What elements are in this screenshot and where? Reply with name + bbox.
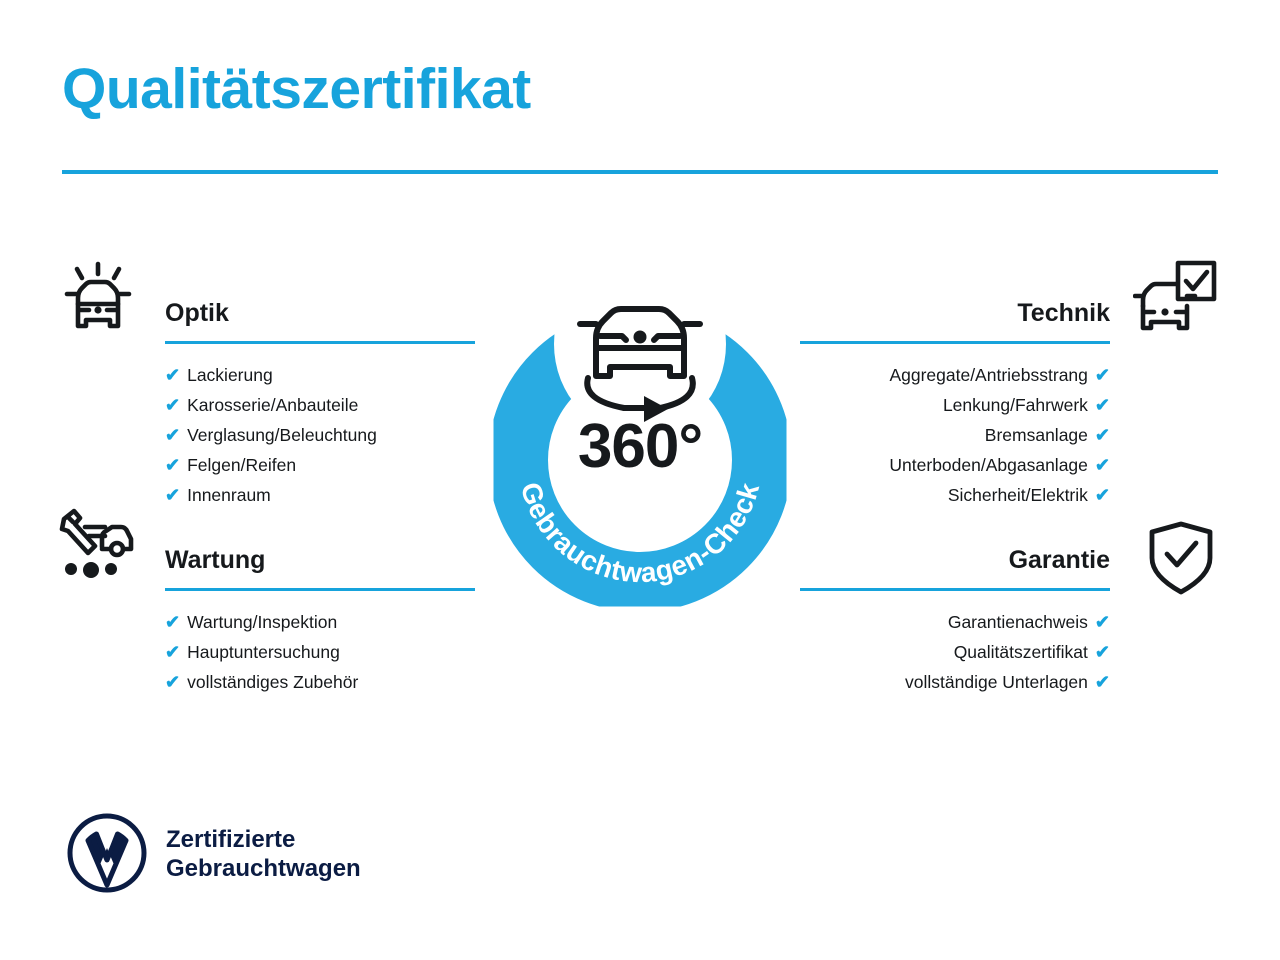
header-divider [62,170,1218,174]
check-icon: ✔ [165,395,180,415]
section-technik: Technik Aggregate/Antriebsstrang✔ Lenkun… [795,296,1215,510]
section-title-optik: Optik [165,296,475,330]
list-item-label: Verglasung/Beleuchtung [187,425,377,445]
list-item: ✔Verglasung/Beleuchtung [55,420,475,450]
section-title-technik: Technik [795,296,1110,330]
check-icon: ✔ [165,642,180,662]
list-item: Lenkung/Fahrwerk✔ [795,390,1215,420]
section-garantie: Garantie Garantienachweis✔ Qualitätszert… [795,543,1215,697]
list-item-label: Aggregate/Antriebsstrang [889,365,1087,385]
quality-certificate-page: Qualitätszertifikat [0,0,1280,960]
list-item-label: Sicherheit/Elektrik [948,485,1088,505]
check-icon: ✔ [1095,365,1110,385]
check-icon: ✔ [1095,425,1110,445]
check-icon: ✔ [165,365,180,385]
360-check-badge: Gebrauchtwagen-Check [455,248,825,618]
list-item-label: Qualitätszertifikat [954,642,1088,662]
section-title-garantie: Garantie [795,543,1110,577]
section-divider-garantie [800,588,1110,591]
section-wartung: Wartung ✔Wartung/Inspektion ✔Hauptunters… [55,543,475,697]
vw-wordmark-line2: Gebrauchtwagen [166,854,361,883]
list-item-label: Felgen/Reifen [187,455,296,475]
check-icon: ✔ [165,612,180,632]
list-item-label: Lackierung [187,365,273,385]
page-title: Qualitätszertifikat [62,58,531,121]
list-item-label: Unterboden/Abgasanlage [889,455,1088,475]
list-item: Garantienachweis✔ [795,607,1215,637]
list-item: ✔Lackierung [55,360,475,390]
list-item: Bremsanlage✔ [795,420,1215,450]
checklist-wartung: ✔Wartung/Inspektion ✔Hauptuntersuchung ✔… [55,607,475,697]
check-icon: ✔ [165,672,180,692]
vw-wordmark: Zertifizierte Gebrauchtwagen [166,825,361,883]
check-icon: ✔ [165,485,180,505]
list-item: ✔Felgen/Reifen [55,450,475,480]
section-divider-wartung [165,588,475,591]
check-icon: ✔ [165,455,180,475]
list-item-label: Bremsanlage [985,425,1088,445]
section-divider-optik [165,341,475,344]
check-icon: ✔ [165,425,180,445]
section-optik: Optik ✔Lackierung ✔Karosserie/Anbauteile… [55,296,475,510]
list-item-label: vollständiges Zubehör [187,672,358,692]
list-item-label: Wartung/Inspektion [187,612,337,632]
list-item: Aggregate/Antriebsstrang✔ [795,360,1215,390]
check-icon: ✔ [1095,672,1110,692]
section-divider-technik [800,341,1110,344]
list-item-label: Lenkung/Fahrwerk [943,395,1088,415]
list-item: vollständige Unterlagen✔ [795,667,1215,697]
list-item-label: Garantienachweis [948,612,1088,632]
checklist-optik: ✔Lackierung ✔Karosserie/Anbauteile ✔Verg… [55,360,475,510]
list-item: Unterboden/Abgasanlage✔ [795,450,1215,480]
list-item: Sicherheit/Elektrik✔ [795,480,1215,510]
checklist-technik: Aggregate/Antriebsstrang✔ Lenkung/Fahrwe… [795,360,1215,510]
vw-wordmark-line1: Zertifizierte [166,825,361,854]
check-icon: ✔ [1095,395,1110,415]
list-item: ✔Hauptuntersuchung [55,637,475,667]
badge-degrees: 360° [455,416,825,478]
list-item: ✔Innenraum [55,480,475,510]
list-item: Qualitätszertifikat✔ [795,637,1215,667]
vw-logo [66,812,148,894]
section-title-wartung: Wartung [165,543,475,577]
checklist-garantie: Garantienachweis✔ Qualitätszertifikat✔ v… [795,607,1215,697]
check-icon: ✔ [1095,485,1110,505]
list-item: ✔vollständiges Zubehör [55,667,475,697]
list-item-label: Karosserie/Anbauteile [187,395,358,415]
list-item-label: Hauptuntersuchung [187,642,340,662]
check-icon: ✔ [1095,455,1110,475]
check-icon: ✔ [1095,642,1110,662]
list-item: ✔Wartung/Inspektion [55,607,475,637]
list-item-label: Innenraum [187,485,271,505]
check-icon: ✔ [1095,612,1110,632]
list-item-label: vollständige Unterlagen [905,672,1088,692]
list-item: ✔Karosserie/Anbauteile [55,390,475,420]
